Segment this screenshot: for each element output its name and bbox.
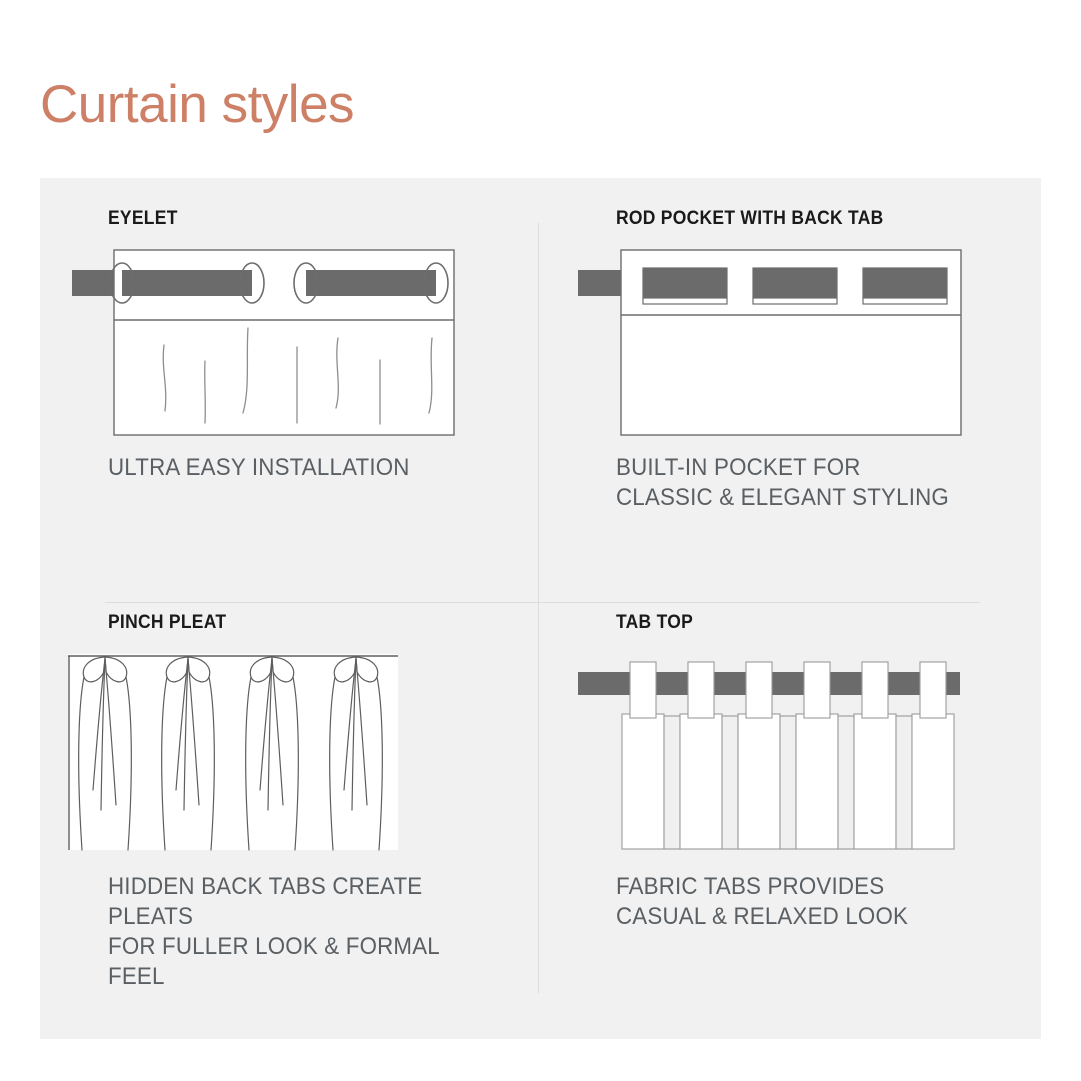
quadrant-rod-pocket-caption: BUILT-IN POCKET FOR CLASSIC & ELEGANT ST… — [616, 453, 949, 513]
page-title: Curtain styles — [40, 76, 354, 134]
eyelet-curtain-illustration — [60, 248, 530, 438]
quadrant-rod-pocket: ROD POCKET WITH BACK TAB — [568, 208, 1038, 608]
tab-top-curtain-illustration — [568, 650, 1038, 855]
infographic-page: Curtain styles EYELET — [0, 0, 1081, 1081]
styles-panel: EYELET — [40, 178, 1041, 1039]
quadrant-rod-pocket-heading: ROD POCKET WITH BACK TAB — [616, 208, 884, 230]
quadrant-tab-top-heading: TAB TOP — [616, 612, 693, 634]
quadrant-eyelet: EYELET — [60, 208, 530, 608]
quadrant-eyelet-heading: EYELET — [108, 208, 178, 230]
quadrant-tab-top-caption: FABRIC TABS PROVIDES CASUAL & RELAXED LO… — [616, 872, 908, 932]
rod-pocket-back-tab-illustration — [568, 248, 1038, 438]
quadrant-tab-top: TAB TOP — [568, 612, 1038, 1012]
quadrant-pinch-pleat: PINCH PLEAT — [60, 612, 530, 1012]
quadrant-eyelet-caption: ULTRA EASY INSTALLATION — [108, 453, 410, 483]
pinch-pleat-curtain-illustration — [60, 650, 530, 855]
vertical-divider — [538, 223, 539, 993]
quadrant-pinch-pleat-heading: PINCH PLEAT — [108, 612, 226, 634]
quadrant-pinch-pleat-caption: HIDDEN BACK TABS CREATE PLEATS FOR FULLE… — [108, 872, 500, 992]
